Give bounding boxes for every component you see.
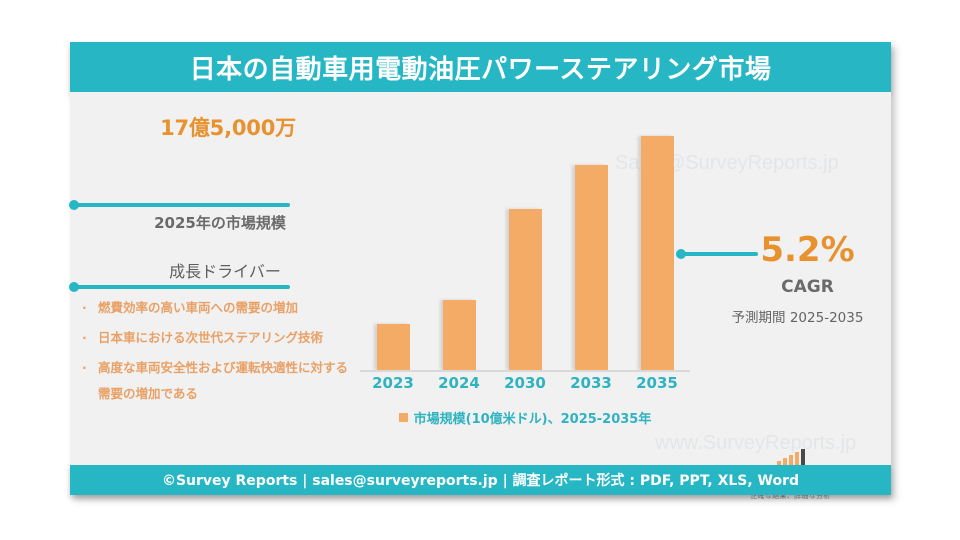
bar-chart: 20232024203020332035 市場規模(10億米ドル)、2025-2… xyxy=(360,92,690,465)
bullet-icon: · xyxy=(82,325,87,351)
chart-bar xyxy=(575,165,608,370)
legend-marker-icon xyxy=(399,413,408,422)
cagr-value: 5.2% xyxy=(720,230,895,270)
growth-drivers-list: · 燃費効率の高い車両への需要の増加 · 日本車における次世代ステアリング技術 … xyxy=(76,295,360,411)
divider-dot-icon xyxy=(69,282,79,292)
list-item: · 日本車における次世代ステアリング技術 xyxy=(76,325,360,351)
bullet-icon: · xyxy=(82,355,87,381)
chart-x-tick-label: 2033 xyxy=(558,374,624,392)
chart-x-tick-label: 2023 xyxy=(360,374,426,392)
chart-bar xyxy=(443,300,476,370)
bar-chart-icon xyxy=(690,448,891,466)
list-item-label: 高度な車両安全性および運転快適性に対する需要の増加である xyxy=(98,360,348,401)
market-size-value: 17億5,000万 xyxy=(108,112,348,142)
chart-x-tick-label: 2030 xyxy=(492,374,558,392)
chart-x-axis xyxy=(360,370,690,372)
divider-dot-icon xyxy=(69,200,79,210)
chart-x-tick-label: 2024 xyxy=(426,374,492,392)
legend-label: 市場規模(10億米ドル)、2025-2035年 xyxy=(414,408,652,427)
page-title: 日本の自動車用電動油圧パワーステアリング市場 xyxy=(190,49,772,86)
chart-x-tick-labels: 20232024203020332035 xyxy=(360,374,690,398)
divider-market-size xyxy=(72,203,290,207)
chart-bar xyxy=(641,136,674,370)
footer-bar: ©Survey Reports | sales@surveyreports.jp… xyxy=(70,465,891,495)
chart-bar-slot xyxy=(360,110,426,370)
market-size-label: 2025年の市場規模 xyxy=(90,212,350,233)
chart-bar-slot xyxy=(426,110,492,370)
chart-legend: 市場規模(10億米ドル)、2025-2035年 xyxy=(360,408,690,427)
divider-growth-drivers xyxy=(72,285,290,289)
chart-x-tick-label: 2035 xyxy=(624,374,690,392)
list-item: · 高度な車両安全性および運転快適性に対する需要の増加である xyxy=(76,355,360,407)
growth-drivers-heading: 成長ドライバー xyxy=(90,258,360,282)
chart-bar xyxy=(377,324,410,370)
infographic-card: 日本の自動車用電動油圧パワーステアリング市場 Sales@SurveyRepor… xyxy=(70,42,891,495)
card-body: Sales@SurveyReports.jp www.SurveyReports… xyxy=(70,92,891,465)
list-item-label: 日本車における次世代ステアリング技術 xyxy=(98,330,323,345)
chart-bar-slot xyxy=(624,110,690,370)
list-item-label: 燃費効率の高い車両への需要の増加 xyxy=(98,300,298,315)
list-item: · 燃費効率の高い車両への需要の増加 xyxy=(76,295,360,321)
chart-bar-slot xyxy=(558,110,624,370)
chart-plot-area xyxy=(360,110,690,370)
connector-dot-icon xyxy=(676,249,686,259)
footer-text: ©Survey Reports | sales@surveyreports.jp… xyxy=(162,470,799,490)
cagr-label: CAGR xyxy=(720,277,895,297)
title-bar: 日本の自動車用電動油圧パワーステアリング市場 xyxy=(70,42,891,92)
chart-bar-slot xyxy=(492,110,558,370)
chart-bar xyxy=(509,209,542,370)
bullet-icon: · xyxy=(82,295,87,321)
cagr-period: 予測期間 2025-2035 xyxy=(700,306,895,326)
cagr-panel: 5.2% CAGR 予測期間 2025-2035 xyxy=(690,92,891,465)
left-panel: 17億5,000万 2025年の市場規模 成長ドライバー · 燃費効率の高い車両… xyxy=(70,92,360,465)
